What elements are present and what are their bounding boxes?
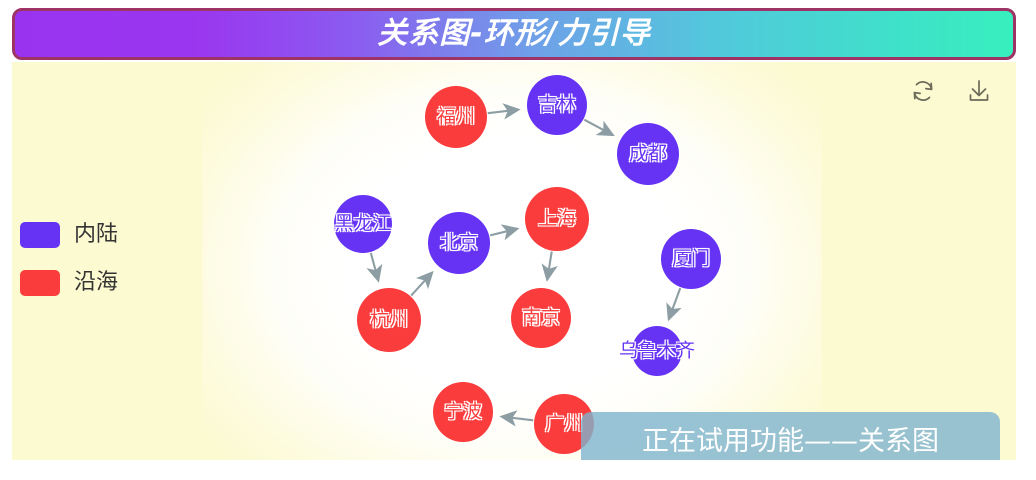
graph-node-label: 北京 — [440, 234, 478, 253]
graph-edge — [411, 273, 432, 296]
graph-node[interactable]: 杭州 — [357, 288, 421, 352]
graph-edge — [547, 252, 552, 280]
legend-swatch-inland — [20, 222, 60, 248]
graph-node-label: 成都 — [629, 145, 667, 164]
graph-node-label: 广州 — [545, 415, 583, 434]
graph-edge — [502, 417, 533, 421]
legend-label-inland: 内陆 — [74, 224, 118, 246]
legend: 内陆 沿海 — [20, 222, 118, 318]
graph-node[interactable]: 黑龙江 — [334, 195, 392, 253]
graph-node-label: 宁波 — [444, 403, 482, 422]
chart-panel: 内陆 沿海 福州吉林成都黑龙江北京上海厦门杭州南京乌鲁木齐宁波广州 正在试用功能… — [12, 62, 1016, 460]
legend-label-coastal: 沿海 — [74, 272, 118, 294]
graph-node-label: 杭州 — [370, 311, 408, 330]
graph-node[interactable]: 福州 — [425, 86, 487, 148]
graph-edge — [584, 120, 612, 135]
graph-node[interactable]: 南京 — [511, 288, 571, 348]
graph-edges — [12, 62, 1016, 460]
title-bar: 关系图-环形/力引导 — [12, 8, 1016, 60]
graph-node[interactable]: 宁波 — [433, 382, 493, 442]
legend-swatch-coastal — [20, 270, 60, 296]
graph-node-label: 吉林 — [538, 96, 576, 115]
graph-node[interactable]: 吉林 — [527, 75, 587, 135]
graph-edge — [669, 288, 680, 319]
graph-node[interactable]: 上海 — [525, 187, 589, 251]
graph-node-label: 黑龙江 — [334, 215, 391, 234]
refresh-icon[interactable] — [908, 76, 938, 106]
graph-edge — [490, 229, 517, 236]
graph-node-label: 厦门 — [672, 250, 710, 269]
graph-node-label: 南京 — [522, 309, 560, 328]
graph-node[interactable]: 北京 — [428, 212, 490, 274]
graph-layer: 福州吉林成都黑龙江北京上海厦门杭州南京乌鲁木齐宁波广州 — [12, 62, 1016, 460]
graph-node[interactable]: 成都 — [617, 123, 679, 185]
legend-item-inland[interactable]: 内陆 — [20, 222, 118, 248]
chart-toolbox — [908, 76, 994, 106]
download-icon[interactable] — [964, 76, 994, 106]
graph-edge — [488, 110, 518, 114]
legend-item-coastal[interactable]: 沿海 — [20, 270, 118, 296]
graph-node-label: 福州 — [437, 108, 475, 127]
graph-node-label: 上海 — [538, 210, 576, 229]
graph-edge — [371, 253, 378, 280]
graph-chart-app: 关系图-环形/力引导 — [0, 0, 1036, 480]
graph-node[interactable]: 广州 — [534, 394, 594, 454]
graph-node[interactable]: 乌鲁木齐 — [632, 326, 682, 376]
page-title: 关系图-环形/力引导 — [377, 19, 650, 49]
graph-node[interactable]: 厦门 — [661, 229, 721, 289]
